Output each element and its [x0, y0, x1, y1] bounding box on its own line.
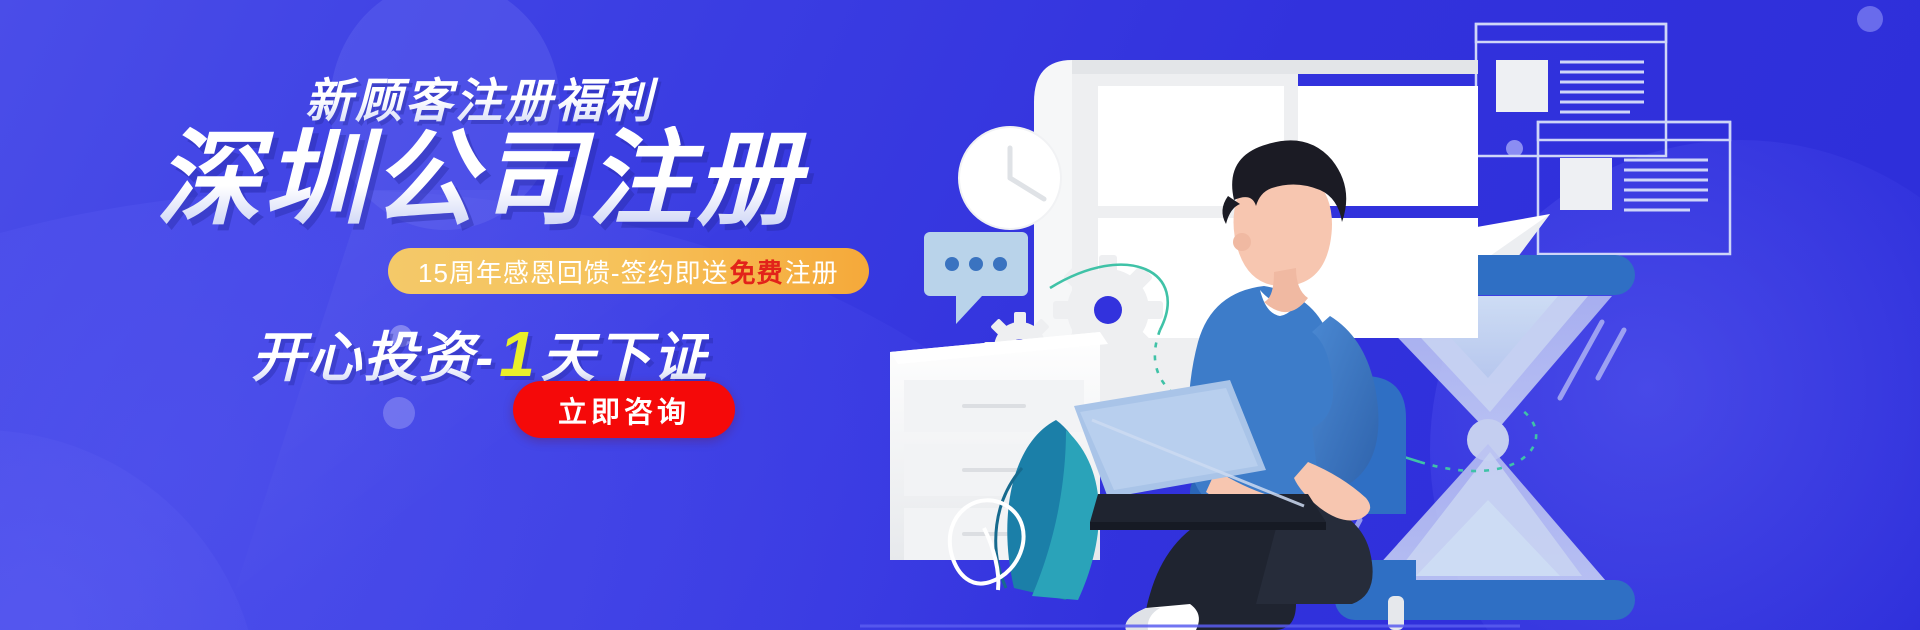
promo-pill-highlight: 免费 — [730, 253, 784, 290]
page-title: 深圳公司注册 — [0, 126, 960, 235]
subline-number: 1 — [495, 318, 541, 390]
promo-pill-suffix: 注册 — [785, 253, 839, 290]
subline-before: 开心投资- — [251, 328, 495, 388]
clock-icon — [959, 127, 1061, 229]
document-card-front — [1538, 122, 1730, 254]
eyebrow-text: 新顾客注册福利 — [0, 62, 960, 131]
hero-illustration — [860, 0, 1920, 630]
promo-banner: 新顾客注册福利 深圳公司注册 15周年感恩回馈-签约即送免费注册 开心投资-1天… — [0, 0, 1920, 630]
subline-after: 天下证 — [541, 328, 709, 388]
document-card-back — [1476, 24, 1666, 156]
copy-block: 新顾客注册福利 深圳公司注册 15周年感恩回馈-签约即送免费注册 开心投资-1天… — [0, 0, 960, 630]
subline: 开心投资-1天下证 — [0, 313, 960, 392]
promo-pill: 15周年感恩回馈-签约即送免费注册 — [388, 248, 869, 294]
promo-pill-prefix: 15周年感恩回馈-签约即送 — [418, 253, 729, 290]
consult-now-button[interactable]: 立即咨询 — [513, 381, 735, 438]
